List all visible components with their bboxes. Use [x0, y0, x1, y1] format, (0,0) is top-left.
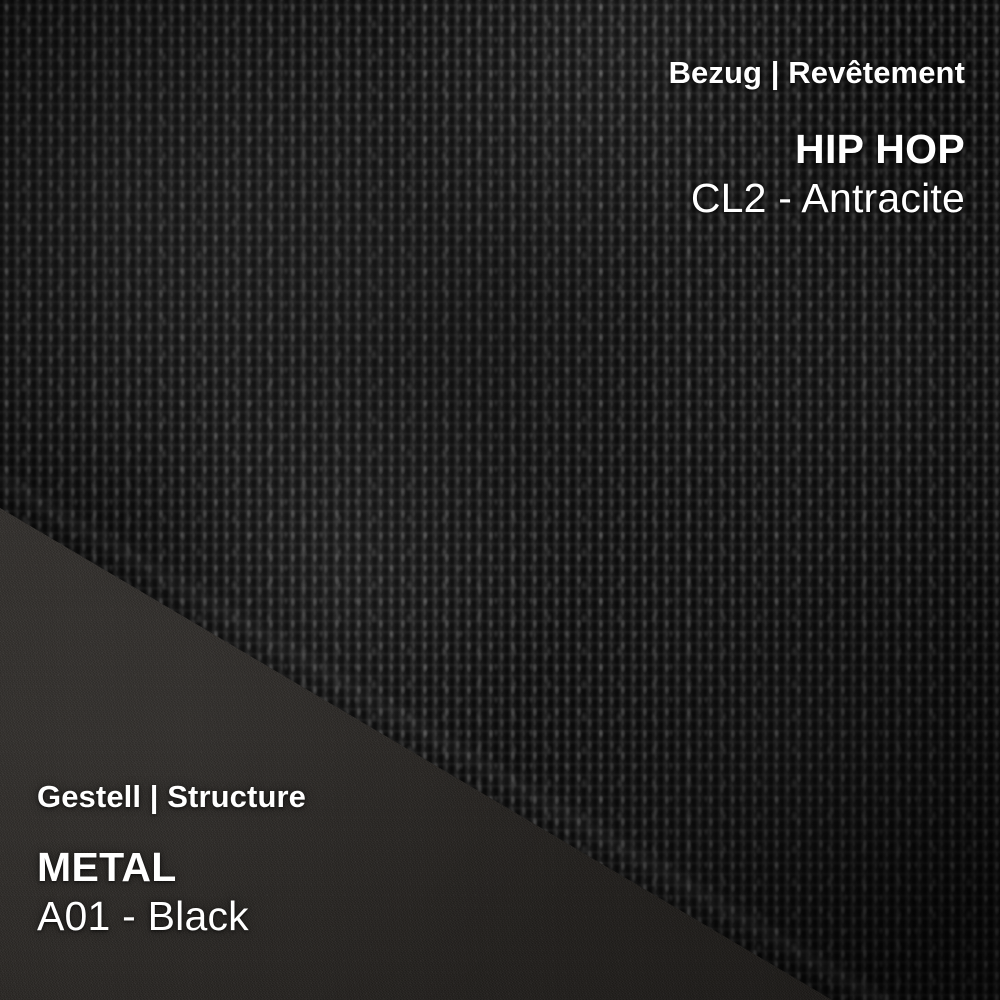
- frame-caption: Gestell | Structure METAL A01 - Black: [37, 780, 306, 940]
- frame-caption-spacer: [37, 815, 306, 845]
- upholstery-material-name: HIP HOP: [669, 127, 965, 172]
- frame-material-name: METAL: [37, 845, 306, 890]
- frame-category-label: Gestell | Structure: [37, 780, 306, 815]
- material-swatch-card: Bezug | Revêtement HIP HOP CL2 - Antraci…: [0, 0, 1000, 1000]
- upholstery-material-code: CL2 - Antracite: [669, 176, 965, 222]
- upholstery-caption-spacer: [669, 91, 965, 127]
- frame-material-code: A01 - Black: [37, 894, 306, 940]
- upholstery-category-label: Bezug | Revêtement: [669, 56, 965, 91]
- upholstery-caption: Bezug | Revêtement HIP HOP CL2 - Antraci…: [669, 56, 965, 222]
